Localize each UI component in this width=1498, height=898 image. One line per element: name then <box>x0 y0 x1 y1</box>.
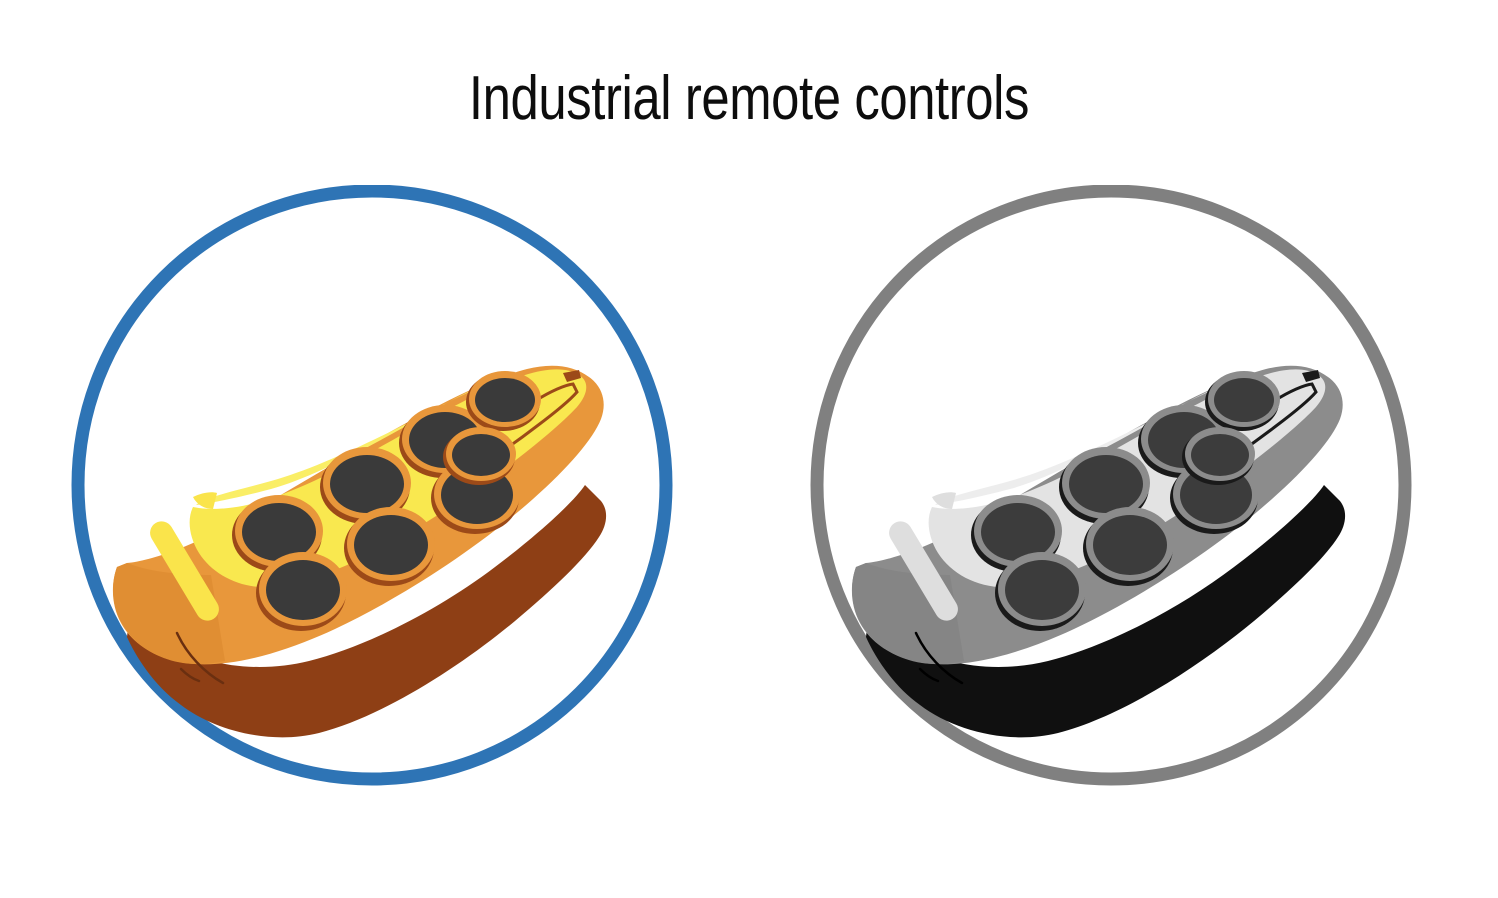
label-strip-nub <box>932 492 956 509</box>
illustration-color-remote <box>65 185 679 799</box>
button-small-top[interactable] <box>466 371 541 431</box>
button-small-top[interactable] <box>1205 371 1280 431</box>
page-title: Industrial remote controls <box>135 66 1363 131</box>
illustration-grayscale-remote <box>804 185 1418 799</box>
label-strip-nub <box>193 492 217 509</box>
illustration-page: Industrial remote controls <box>0 0 1498 898</box>
remote-device-grayscale[interactable] <box>852 366 1345 738</box>
remote-device-color[interactable] <box>113 366 606 738</box>
